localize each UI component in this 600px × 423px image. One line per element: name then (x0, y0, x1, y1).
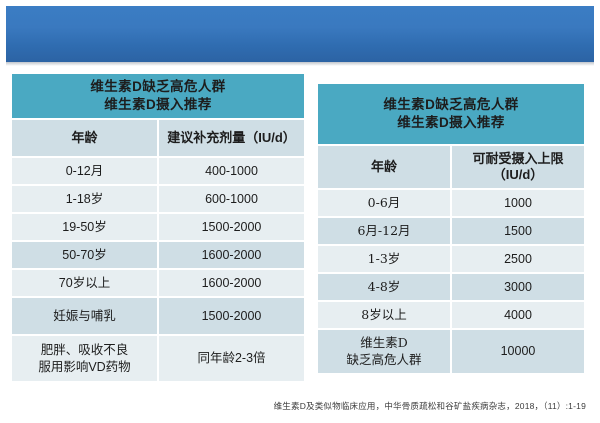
table-left-cell-dose: 400-1000 (158, 157, 304, 185)
table-right-cell-limit: 10000 (451, 329, 584, 373)
table-left-cell-age: 19-50岁 (12, 213, 158, 241)
table-right-header-row: 年龄 可耐受摄入上限 （IU/d） (318, 146, 584, 189)
table-right-body: 0-6月 1000 6月-12月 1500 1-3岁 2500 4-8岁 300… (318, 189, 584, 373)
table-left-cell-dose: 同年龄2-3倍 (158, 335, 304, 381)
table-left-cell-dose: 1600-2000 (158, 269, 304, 297)
table-right-head: 维生素D缺乏高危人群 维生素D摄入推荐 年龄 可耐受摄入上限 （IU/d） (318, 84, 584, 189)
table-left-title-row: 维生素D缺乏高危人群 维生素D摄入推荐 (12, 74, 304, 118)
table-right-title-line1: 维生素D缺乏高危人群 (318, 96, 584, 114)
table-left-col-age: 年龄 (12, 120, 158, 157)
table-row: 4-8岁 3000 (318, 273, 584, 301)
table-row: 6月-12月 1500 (318, 217, 584, 245)
table-right-title: 维生素D缺乏高危人群 维生素D摄入推荐 (318, 84, 584, 144)
table-right-cell-limit: 2500 (451, 245, 584, 273)
table-row: 0-6月 1000 (318, 189, 584, 217)
table-right-col-limit: 可耐受摄入上限 （IU/d） (451, 146, 584, 189)
table-left-col-dose: 建议补充剂量（IU/d） (158, 120, 304, 157)
table-left-cell-dose: 1500-2000 (158, 297, 304, 335)
table-right-col-age: 年龄 (318, 146, 451, 189)
table-right-title-row: 维生素D缺乏高危人群 维生素D摄入推荐 (318, 84, 584, 144)
table-left-cell-dose: 600-1000 (158, 185, 304, 213)
table-left-cell-dose: 1600-2000 (158, 241, 304, 269)
table-left-header-row: 年龄 建议补充剂量（IU/d） (12, 120, 304, 157)
table-right-cell-age: 1-3岁 (318, 245, 451, 273)
table-row: 维生素D 缺乏高危人群 10000 (318, 329, 584, 373)
top-banner (6, 6, 594, 62)
table-left-title: 维生素D缺乏高危人群 维生素D摄入推荐 (12, 74, 304, 118)
table-left-cell-age: 1-18岁 (12, 185, 158, 213)
table-right-cell-age: 6月-12月 (318, 217, 451, 245)
table-right-cell-age: 4-8岁 (318, 273, 451, 301)
table-left-cell-age: 0-12月 (12, 157, 158, 185)
table-left-title-line1: 维生素D缺乏高危人群 (12, 78, 304, 96)
table-row: 妊娠与哺乳 1500-2000 (12, 297, 304, 335)
top-banner-shadow (6, 62, 594, 66)
table-left-cell-age: 70岁以上 (12, 269, 158, 297)
table-right-cell-limit: 1000 (451, 189, 584, 217)
table-row: 50-70岁 1600-2000 (12, 241, 304, 269)
table-left-body: 0-12月 400-1000 1-18岁 600-1000 19-50岁 150… (12, 157, 304, 381)
table-right-title-line2: 维生素D摄入推荐 (318, 114, 584, 132)
table-right-cell-limit: 3000 (451, 273, 584, 301)
table-row: 8岁以上 4000 (318, 301, 584, 329)
table-right-cell-limit: 4000 (451, 301, 584, 329)
table-right-cell-age: 维生素D 缺乏高危人群 (318, 329, 451, 373)
vitamin-d-supplement-table: 维生素D缺乏高危人群 维生素D摄入推荐 年龄 建议补充剂量（IU/d） 0-12… (12, 74, 304, 381)
table-right-cell-age: 0-6月 (318, 189, 451, 217)
table-row: 0-12月 400-1000 (12, 157, 304, 185)
table-right-cell-age: 8岁以上 (318, 301, 451, 329)
table-right-cell-limit: 1500 (451, 217, 584, 245)
table-row: 19-50岁 1500-2000 (12, 213, 304, 241)
table-left-cell-dose: 1500-2000 (158, 213, 304, 241)
table-row: 70岁以上 1600-2000 (12, 269, 304, 297)
table-left-title-line2: 维生素D摄入推荐 (12, 96, 304, 114)
vitamin-d-upper-limit-table: 维生素D缺乏高危人群 维生素D摄入推荐 年龄 可耐受摄入上限 （IU/d） 0-… (318, 84, 584, 373)
table-left-cell-age: 妊娠与哺乳 (12, 297, 158, 335)
table-left-cell-age: 肥胖、吸收不良 服用影响VD药物 (12, 335, 158, 381)
table-left-head: 维生素D缺乏高危人群 维生素D摄入推荐 年龄 建议补充剂量（IU/d） (12, 74, 304, 157)
table-row: 1-18岁 600-1000 (12, 185, 304, 213)
table-left-cell-age: 50-70岁 (12, 241, 158, 269)
table-row: 1-3岁 2500 (318, 245, 584, 273)
citation-text: 维生素D及类似物临床应用，中华骨质疏松和谷矿盐疾病杂志，2018，（11）:1-… (0, 400, 586, 412)
table-row: 肥胖、吸收不良 服用影响VD药物 同年龄2-3倍 (12, 335, 304, 381)
